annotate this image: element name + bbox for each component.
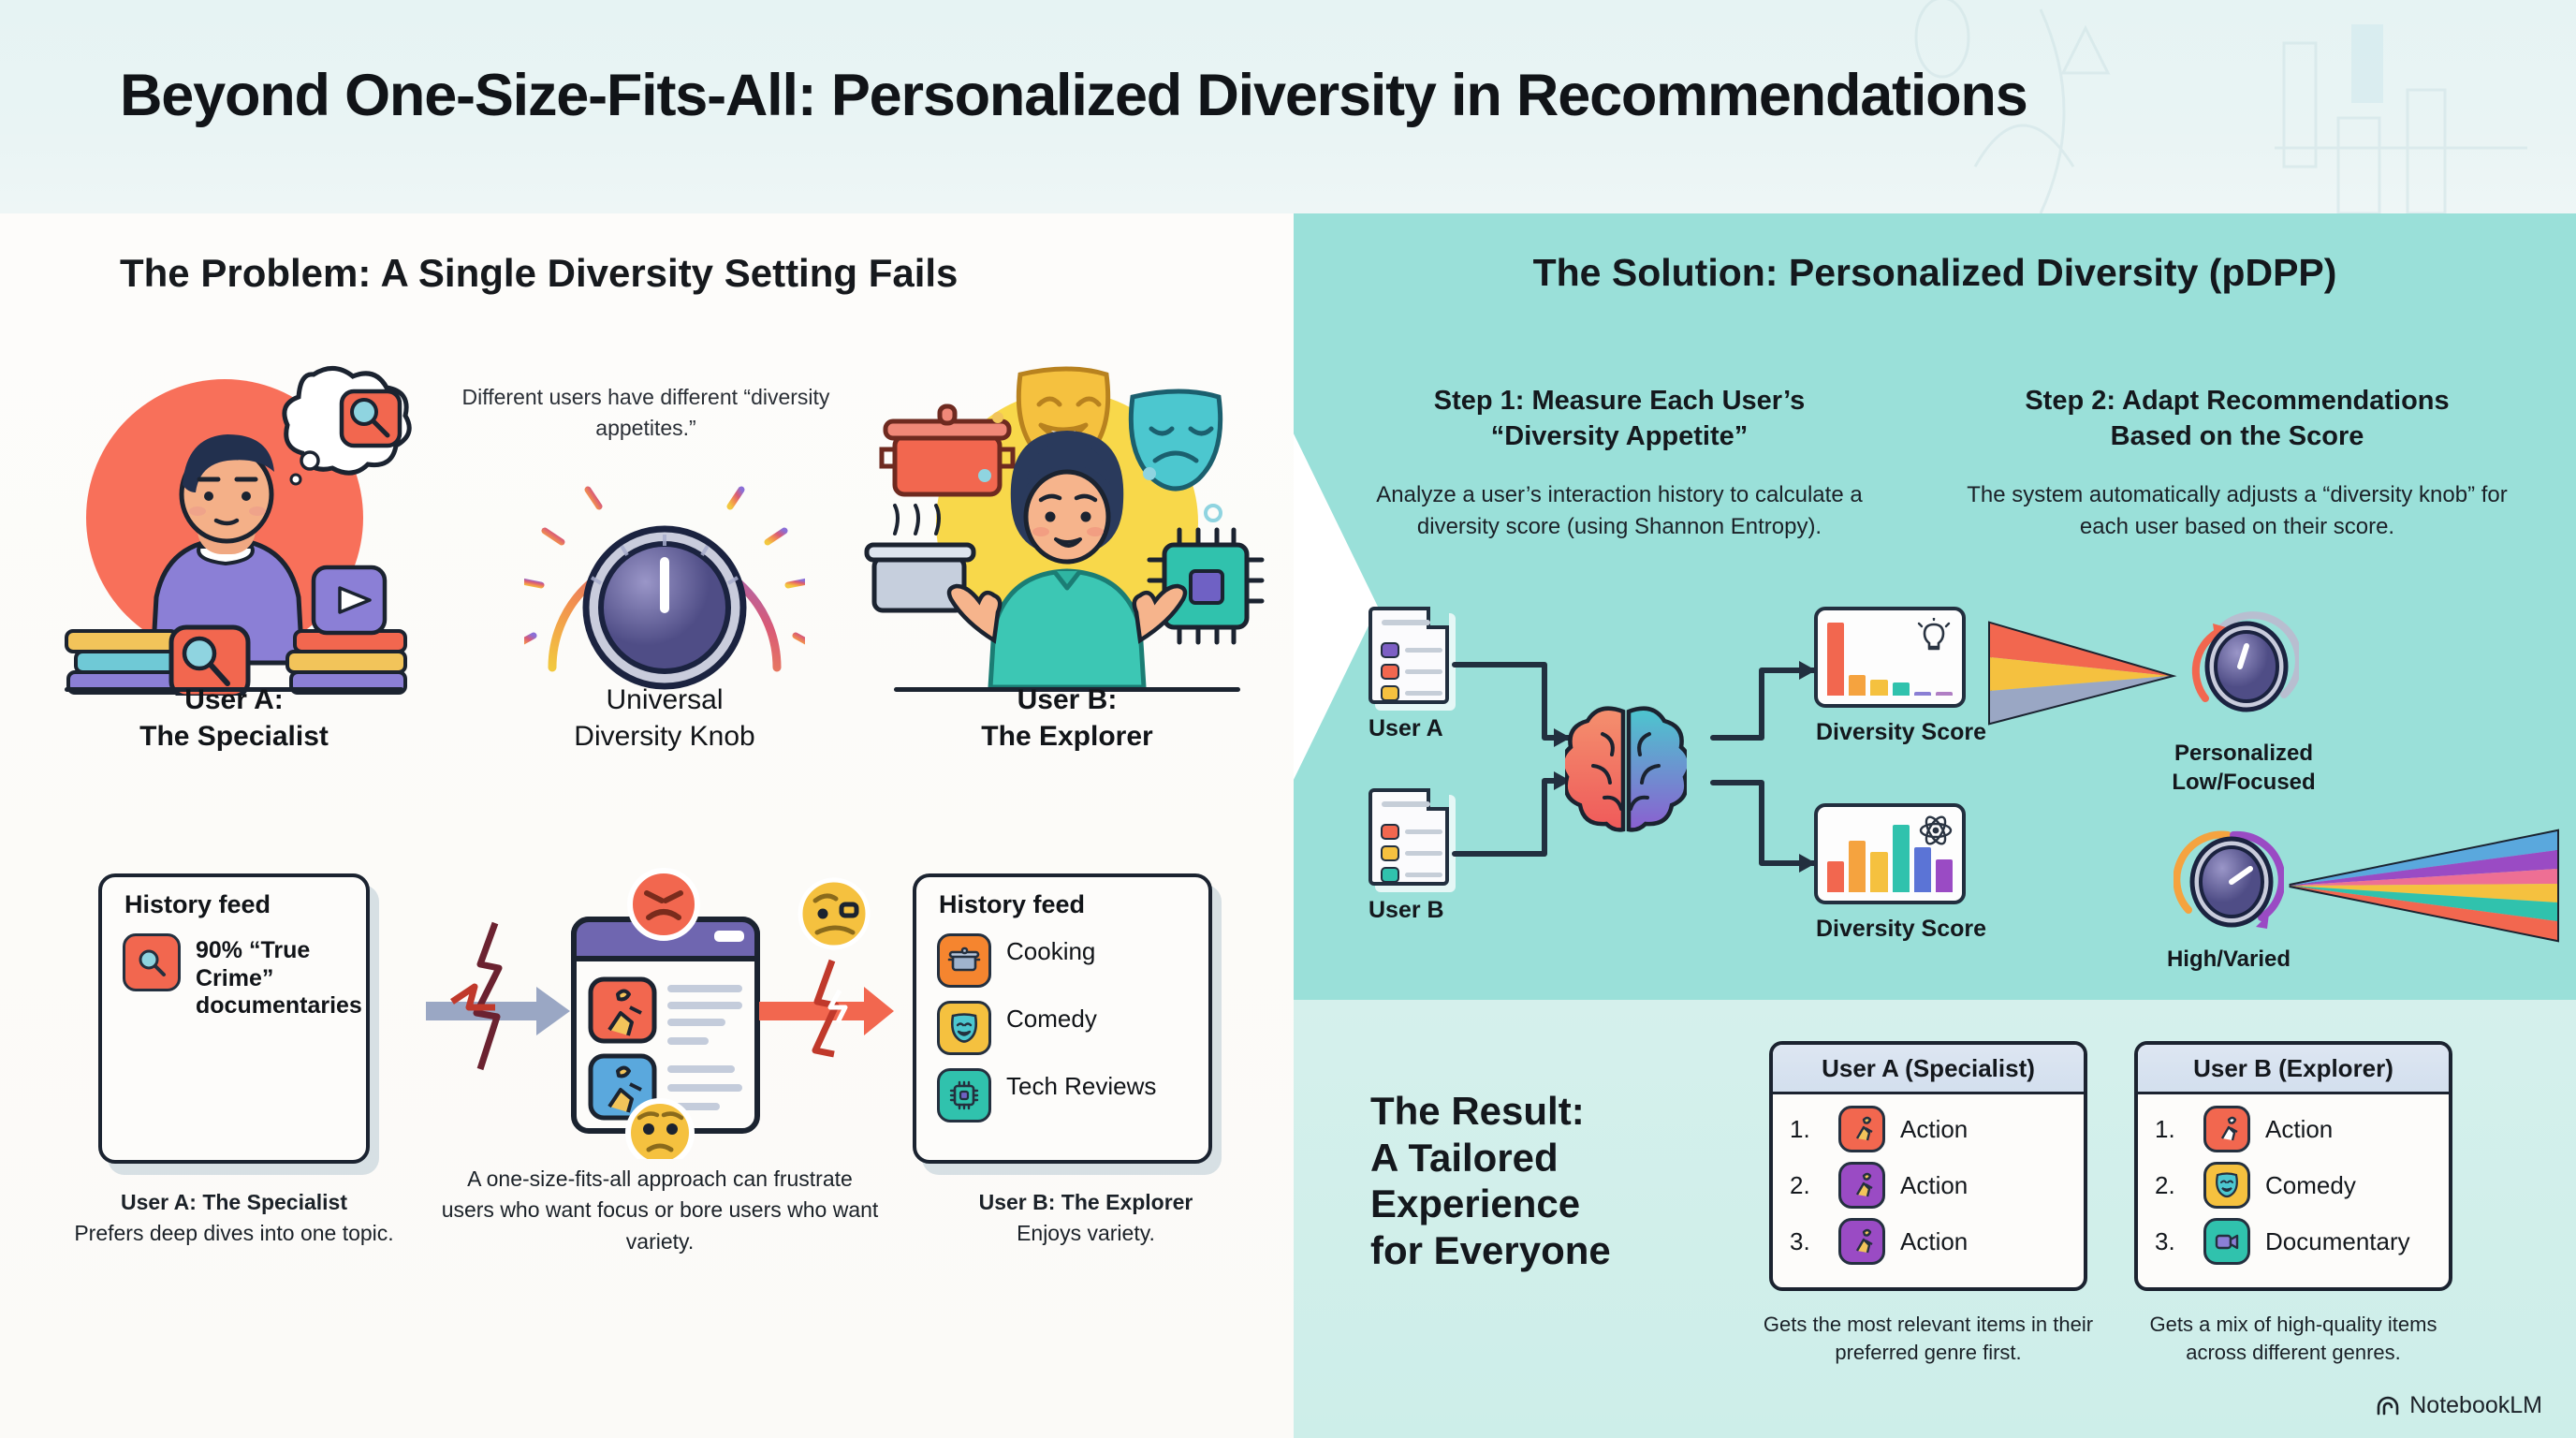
doc-header-line: [1382, 620, 1430, 625]
bar: [1827, 623, 1844, 696]
user-b-document-icon: [1368, 788, 1449, 886]
user-a-specialist-illustration: [33, 363, 435, 696]
user-b-summary-caption: User B: The Explorer Enjoys variety.: [899, 1187, 1273, 1250]
bar: [1914, 692, 1931, 696]
action-runner-icon: [1838, 1162, 1885, 1209]
step1-heading-line1: Step 1: Measure Each User’s: [1348, 384, 1891, 419]
table-row: 2. Action: [1790, 1162, 2067, 1209]
result-card-a-rows: 1. Action 2. Action 3. Action: [1773, 1094, 2084, 1287]
user-a-summary-bold: User A: The Specialist: [121, 1190, 347, 1214]
table-row: 3. Action: [1790, 1218, 2067, 1265]
step2-heading-line1: Step 2: Adapt Recommendations: [1947, 384, 2527, 419]
doc-item-swatch: [1381, 664, 1399, 680]
low-focused-knob-label: Personalized Low/Focused: [2108, 740, 2379, 797]
page-title: Beyond One-Size-Fits-All: Personalized D…: [120, 62, 2027, 129]
one-size-fits-all-caption: A one-size-fits-all approach can frustra…: [440, 1164, 880, 1257]
result-title-line1: The Result:: [1370, 1088, 1764, 1135]
infographic-page: Beyond One-Size-Fits-All: Personalized D…: [0, 0, 2576, 1438]
diversity-score-label-a: Diversity Score: [1816, 719, 1986, 746]
list-item: 90% “True Crime” documentaries: [123, 933, 353, 1020]
rank-number: 3.: [2155, 1227, 2188, 1256]
table-row: 1. Action: [2155, 1106, 2432, 1152]
table-row: 3. Documentary: [2155, 1218, 2432, 1265]
result-card-user-a: User A (Specialist) 1. Action 2. Action …: [1769, 1041, 2087, 1291]
doc-item-swatch: [1381, 867, 1399, 883]
step1-heading-line2: “Diversity Appetite”: [1348, 419, 1891, 455]
user-a-doc-label: User A: [1368, 715, 1443, 742]
history-feed-b-rows: Cooking Comedy: [937, 933, 1195, 1136]
user-b-doc-label: User B: [1368, 897, 1444, 924]
result-card-a-caption: Gets the most relevant items in their pr…: [1760, 1311, 2097, 1368]
one-size-fits-all-frustration-illustration: [426, 859, 894, 1159]
doc-header-line: [1382, 801, 1430, 807]
user-b-explorer-illustration: [861, 363, 1273, 696]
solution-panel-title: The Solution: Personalized Diversity (pD…: [1294, 251, 2576, 295]
history-feed-a-item-label: 90% “True Crime” documentaries: [196, 933, 362, 1020]
genre-label: Action: [2265, 1115, 2333, 1144]
user-b-caption-line2: The Explorer: [861, 718, 1273, 755]
history-feed-a-title: History feed: [124, 890, 271, 919]
rank-number: 2.: [2155, 1171, 2188, 1200]
bar: [1914, 847, 1931, 892]
high-diversity-fan: [2284, 826, 2565, 946]
history-feed-b-item-label: Comedy: [1006, 1001, 1097, 1034]
bar: [1849, 841, 1866, 892]
knob-low-label-line1: Personalized: [2108, 740, 2379, 769]
doc-text-line: [1405, 691, 1442, 696]
user-a-caption-line2: The Specialist: [33, 718, 435, 755]
doc-text-line: [1405, 829, 1442, 834]
user-b-summary-text: Enjoys variety.: [1017, 1221, 1155, 1245]
table-row: 1. Action: [1790, 1106, 2067, 1152]
bar: [1870, 680, 1887, 696]
history-feed-a-rows: 90% “True Crime” documentaries: [123, 933, 353, 1034]
low-diversity-fan: [1983, 618, 2179, 730]
comedy-mask-icon: [937, 1001, 991, 1055]
bar: [1827, 861, 1844, 892]
result-title-line3: Experience: [1370, 1181, 1764, 1227]
lightbulb-icon: [1915, 618, 1953, 653]
action-runner-icon: [2203, 1106, 2250, 1152]
list-item: Cooking: [937, 933, 1195, 988]
atom-icon: [1917, 813, 1954, 848]
genre-label: Documentary: [2265, 1227, 2410, 1256]
result-title-line2: A Tailored: [1370, 1135, 1764, 1181]
action-runner-icon: [1838, 1218, 1885, 1265]
result-card-user-b: User B (Explorer) 1. Action 2. Com: [2134, 1041, 2452, 1291]
diversity-score-chart-user-b: [1814, 803, 1966, 904]
history-feed-card-user-a: History feed 90% “True Crime” documentar…: [98, 873, 370, 1164]
user-b-caption: User B: The Explorer: [861, 682, 1273, 755]
knob-caption: Universal Diversity Knob: [510, 682, 819, 755]
user-a-summary-caption: User A: The Specialist Prefers deep dive…: [56, 1187, 412, 1250]
history-feed-card-user-b: History feed Cooking: [913, 873, 1212, 1164]
genre-label: Action: [1900, 1115, 1968, 1144]
genre-label: Action: [1900, 1227, 1968, 1256]
diversity-appetites-note: Different users have different “diversit…: [459, 382, 833, 443]
bar: [1870, 852, 1887, 892]
list-item: Comedy: [937, 1001, 1195, 1055]
step1-heading: Step 1: Measure Each User’s “Diversity A…: [1348, 384, 1891, 454]
bar: [1936, 692, 1953, 696]
magnifier-icon: [123, 933, 181, 991]
result-title-line4: for Everyone: [1370, 1227, 1764, 1274]
notebooklm-watermark: NotebookLM: [2375, 1392, 2542, 1419]
rank-number: 1.: [2155, 1115, 2188, 1144]
step2-description: The system automatically adjusts a “dive…: [1947, 479, 2527, 543]
doc-item-swatch: [1381, 685, 1399, 701]
result-card-b-header: User B (Explorer): [2138, 1045, 2449, 1094]
user-a-summary-text: Prefers deep dives into one topic.: [74, 1221, 393, 1245]
knob-caption-line2: Diversity Knob: [510, 718, 819, 755]
result-card-b-caption: Gets a mix of high-quality items across …: [2125, 1311, 2462, 1368]
doc-item-swatch: [1381, 824, 1399, 840]
genre-label: Action: [1900, 1171, 1968, 1200]
notebooklm-icon: [2375, 1393, 2401, 1419]
comedy-mask-icon: [2203, 1162, 2250, 1209]
microchip-icon: [937, 1068, 991, 1123]
genre-label: Comedy: [2265, 1171, 2356, 1200]
history-feed-b-title: History feed: [939, 890, 1085, 919]
high-varied-knob: [2173, 824, 2275, 934]
user-a-caption-line1: User A:: [33, 682, 435, 718]
doc-item-swatch: [1381, 642, 1399, 658]
bar: [1849, 675, 1866, 696]
video-camera-icon: [2203, 1218, 2250, 1265]
high-varied-knob-label: High/Varied: [2093, 946, 2364, 975]
bar: [1936, 859, 1953, 892]
doc-text-line: [1405, 648, 1442, 653]
knob-caption-line1: Universal: [510, 682, 819, 718]
bar: [1893, 825, 1910, 892]
result-card-b-rows: 1. Action 2. Comedy 3.: [2138, 1094, 2449, 1287]
step1-description: Analyze a user’s interaction history to …: [1348, 479, 1891, 543]
doc-text-line: [1405, 873, 1442, 877]
header-band: Beyond One-Size-Fits-All: Personalized D…: [0, 0, 2576, 213]
cooking-pot-icon: [937, 933, 991, 988]
action-runner-icon: [1838, 1106, 1885, 1152]
notebooklm-label: NotebookLM: [2409, 1392, 2542, 1419]
history-feed-b-item-label: Tech Reviews: [1006, 1068, 1156, 1101]
user-b-summary-bold: User B: The Explorer: [979, 1190, 1193, 1214]
doc-text-line: [1405, 669, 1442, 674]
history-feed-b-item-label: Cooking: [1006, 933, 1095, 966]
rank-number: 2.: [1790, 1171, 1823, 1200]
brain-icon: [1565, 700, 1687, 841]
table-row: 2. Comedy: [2155, 1162, 2432, 1209]
rank-number: 3.: [1790, 1227, 1823, 1256]
result-card-a-header: User A (Specialist): [1773, 1045, 2084, 1094]
problem-panel-title: The Problem: A Single Diversity Setting …: [120, 251, 958, 296]
doc-text-line: [1405, 851, 1442, 856]
list-item: Tech Reviews: [937, 1068, 1195, 1123]
bar: [1893, 682, 1910, 696]
rank-number: 1.: [1790, 1115, 1823, 1144]
step2-heading-line2: Based on the Score: [1947, 419, 2527, 455]
diversity-score-label-b: Diversity Score: [1816, 916, 1986, 943]
user-a-caption: User A: The Specialist: [33, 682, 435, 755]
personalized-low-knob: [2188, 609, 2290, 719]
step2-heading: Step 2: Adapt Recommendations Based on t…: [1947, 384, 2527, 454]
doc-item-swatch: [1381, 845, 1399, 861]
result-title: The Result: A Tailored Experience for Ev…: [1370, 1088, 1764, 1273]
universal-diversity-knob-illustration: [524, 452, 805, 691]
user-b-caption-line1: User B:: [861, 682, 1273, 718]
user-a-document-icon: [1368, 607, 1449, 704]
diversity-score-chart-user-a: [1814, 607, 1966, 708]
knob-low-label-line2: Low/Focused: [2108, 769, 2379, 798]
problem-panel: The Problem: A Single Diversity Setting …: [0, 213, 1294, 1438]
